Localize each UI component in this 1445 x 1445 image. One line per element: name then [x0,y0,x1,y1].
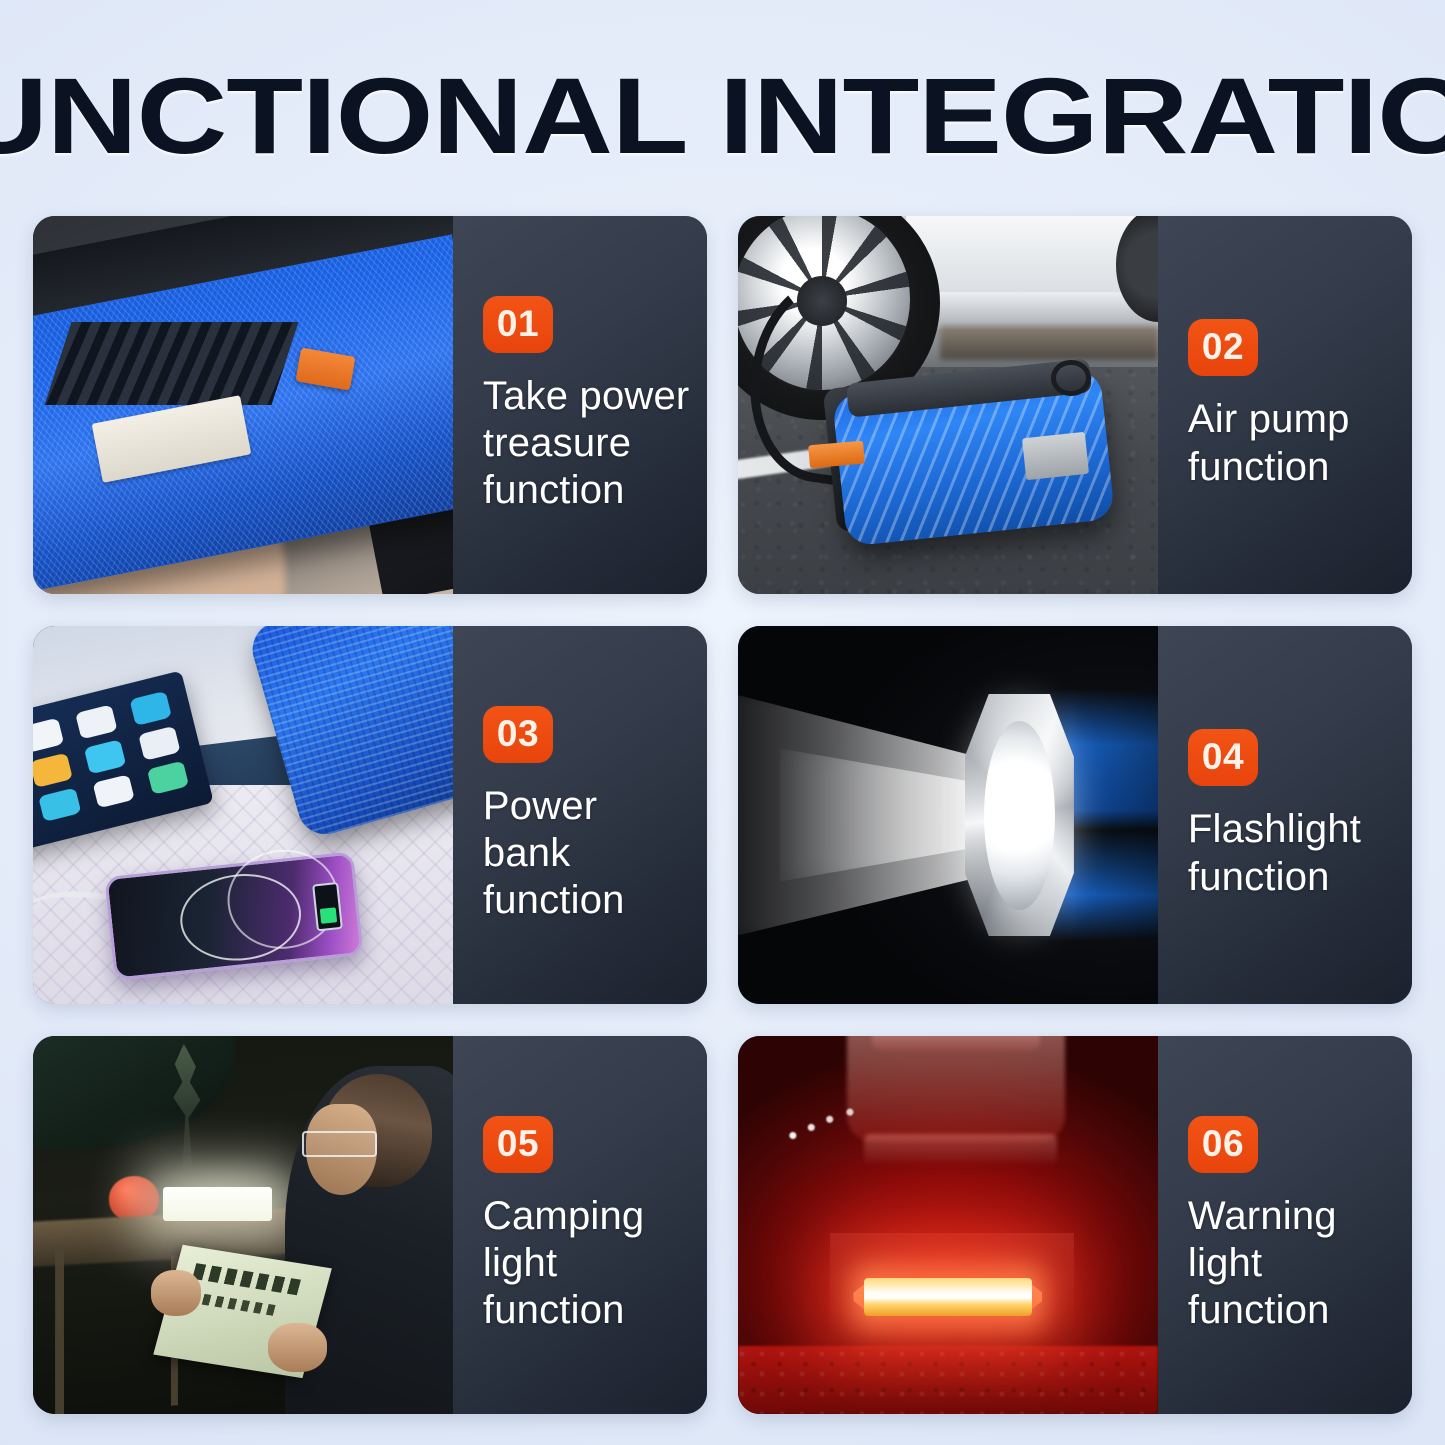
card-title-line: function [1188,1287,1398,1334]
card-title-05: Camping light function [483,1193,693,1335]
card-panel-03: 03 Power bank function [453,626,707,1004]
card-title-line: light [483,1240,693,1287]
card-title-line: function [483,467,693,514]
feature-card-03[interactable]: 03 Power bank function [33,626,707,1004]
card-photo-take-power-treasure [33,216,453,594]
card-number-badge: 01 [483,296,553,353]
card-photo-flashlight [738,626,1158,1004]
card-title-line: function [483,1287,693,1334]
card-photo-camping-light [33,1036,453,1414]
card-number-badge: 04 [1188,729,1258,786]
card-number-badge: 03 [483,706,553,763]
feature-card-06[interactable]: 06 Warning light function [738,1036,1412,1414]
feature-card-04[interactable]: 04 Flashlight function [738,626,1412,1004]
page-title: FUNCTIONAL INTEGRATION [0,62,1445,170]
card-panel-02: 02 Air pump function [1158,216,1412,594]
card-title-03: Power bank function [483,783,693,925]
card-title-02: Air pump function [1188,396,1398,490]
card-number-badge: 06 [1188,1116,1258,1173]
card-title-line: Camping [483,1193,693,1240]
card-title-line: function [1188,854,1398,901]
card-title-line: Take power [483,373,693,420]
card-panel-04: 04 Flashlight function [1158,626,1412,1004]
feature-card-02[interactable]: 02 Air pump function [738,216,1412,594]
feature-card-05[interactable]: 05 Camping light function [33,1036,707,1414]
card-title-line: function [483,877,693,924]
card-title-01: Take power treasure function [483,373,693,515]
feature-card-01[interactable]: 01 Take power treasure function [33,216,707,594]
tablet-app-icons [33,691,190,836]
card-photo-power-bank [33,626,453,1004]
feature-cards-grid: 01 Take power treasure function [33,216,1412,1416]
card-title-line: function [1188,444,1398,491]
card-title-04: Flashlight function [1188,806,1398,900]
card-title-line: bank [483,830,693,877]
card-title-line: Warning [1188,1193,1398,1240]
card-title-line: light [1188,1240,1398,1287]
card-photo-air-pump [738,216,1158,594]
card-title-line: Air pump [1188,396,1398,443]
card-title-06: Warning light function [1188,1193,1398,1335]
card-title-line: Power [483,783,693,830]
card-title-line: Flashlight [1188,806,1398,853]
card-number-badge: 05 [483,1116,553,1173]
card-title-line: treasure [483,420,693,467]
card-number-badge: 02 [1188,319,1258,376]
card-panel-05: 05 Camping light function [453,1036,707,1414]
card-panel-06: 06 Warning light function [1158,1036,1412,1414]
infographic-page: FUNCTIONAL INTEGRATION [0,0,1445,1445]
card-panel-01: 01 Take power treasure function [453,216,707,594]
card-photo-warning-light [738,1036,1158,1414]
